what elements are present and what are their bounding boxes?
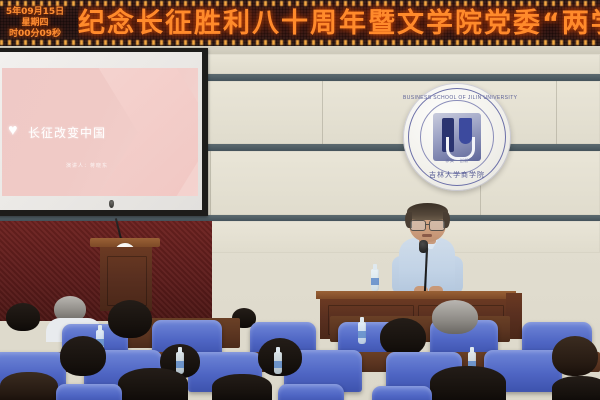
audience-water-bottle — [358, 322, 366, 344]
audience-head — [60, 336, 106, 376]
slide-title: 长征改变中国 — [28, 124, 106, 141]
auditorium-seat[interactable] — [56, 384, 122, 400]
audience-head — [6, 303, 40, 331]
audience-head-foreground — [552, 376, 600, 400]
led-clock-weekday: 星期四 — [21, 18, 48, 29]
screen-bottom-weight — [109, 200, 114, 208]
crest-u-letter — [446, 137, 475, 160]
presentation-slide: ♥ 长征改变中国 演讲人：蒋晓东 — [2, 68, 198, 196]
slide-chevron-graphic — [90, 68, 198, 196]
audience-water-bottle — [274, 352, 282, 374]
auditorium-seat[interactable] — [372, 386, 432, 400]
audience-head — [380, 318, 426, 356]
rostrum-water-bottle — [371, 269, 379, 291]
lectern-panel-inset — [107, 256, 147, 306]
wall-seam-c — [210, 151, 211, 215]
crest-motto: 求实 · 创新 — [403, 158, 511, 164]
audience-head — [108, 300, 152, 338]
speaker-hair — [407, 203, 448, 220]
projection-screen-surface: ♥ 长征改变中国 演讲人：蒋晓东 — [0, 52, 202, 210]
led-clock-time: 时00分09秒 — [9, 29, 61, 40]
audience-head-foreground — [430, 366, 506, 400]
slide-subtitle: 演讲人：蒋晓东 — [66, 162, 108, 169]
audience-head-foreground — [212, 374, 272, 400]
lecture-hall-photo: 5年09月15日 星期四 时00分09秒 纪念长征胜利八十周年暨文学院党委“两学… — [0, 0, 600, 400]
led-clock: 5年09月15日 星期四 时00分09秒 — [0, 4, 70, 42]
eyeglasses-icon — [409, 220, 446, 229]
audience-head-foreground — [118, 368, 188, 400]
led-banner-headline: 纪念长征胜利八十周年暨文学院党委“两学一做 — [78, 3, 600, 43]
wall-seam-b — [556, 81, 557, 144]
led-banner: 5年09月15日 星期四 时00分09秒 纪念长征胜利八十周年暨文学院党委“两学… — [0, 0, 600, 46]
audience-head — [552, 336, 598, 376]
crest-chinese-text: 吉林大学商学院 — [403, 170, 511, 180]
wall-seam-a — [322, 81, 323, 144]
led-clock-date: 5年09月15日 — [6, 7, 64, 18]
audience-head — [432, 300, 478, 334]
auditorium-seat[interactable] — [278, 384, 344, 400]
crest-monogram — [433, 113, 481, 161]
speaker-mouth — [422, 234, 432, 237]
projection-screen-frame: ♥ 长征改变中国 演讲人：蒋晓东 — [0, 48, 208, 216]
audience-water-bottle — [176, 352, 184, 374]
heart-icon: ♥ — [8, 122, 25, 139]
university-crest: BUSINESS SCHOOL OF JILIN UNIVERSITY 求实 ·… — [403, 83, 511, 191]
crest-english-text: BUSINESS SCHOOL OF JILIN UNIVERSITY — [403, 95, 511, 101]
audience-head-foreground — [0, 372, 58, 400]
rostrum-surface — [316, 291, 516, 299]
